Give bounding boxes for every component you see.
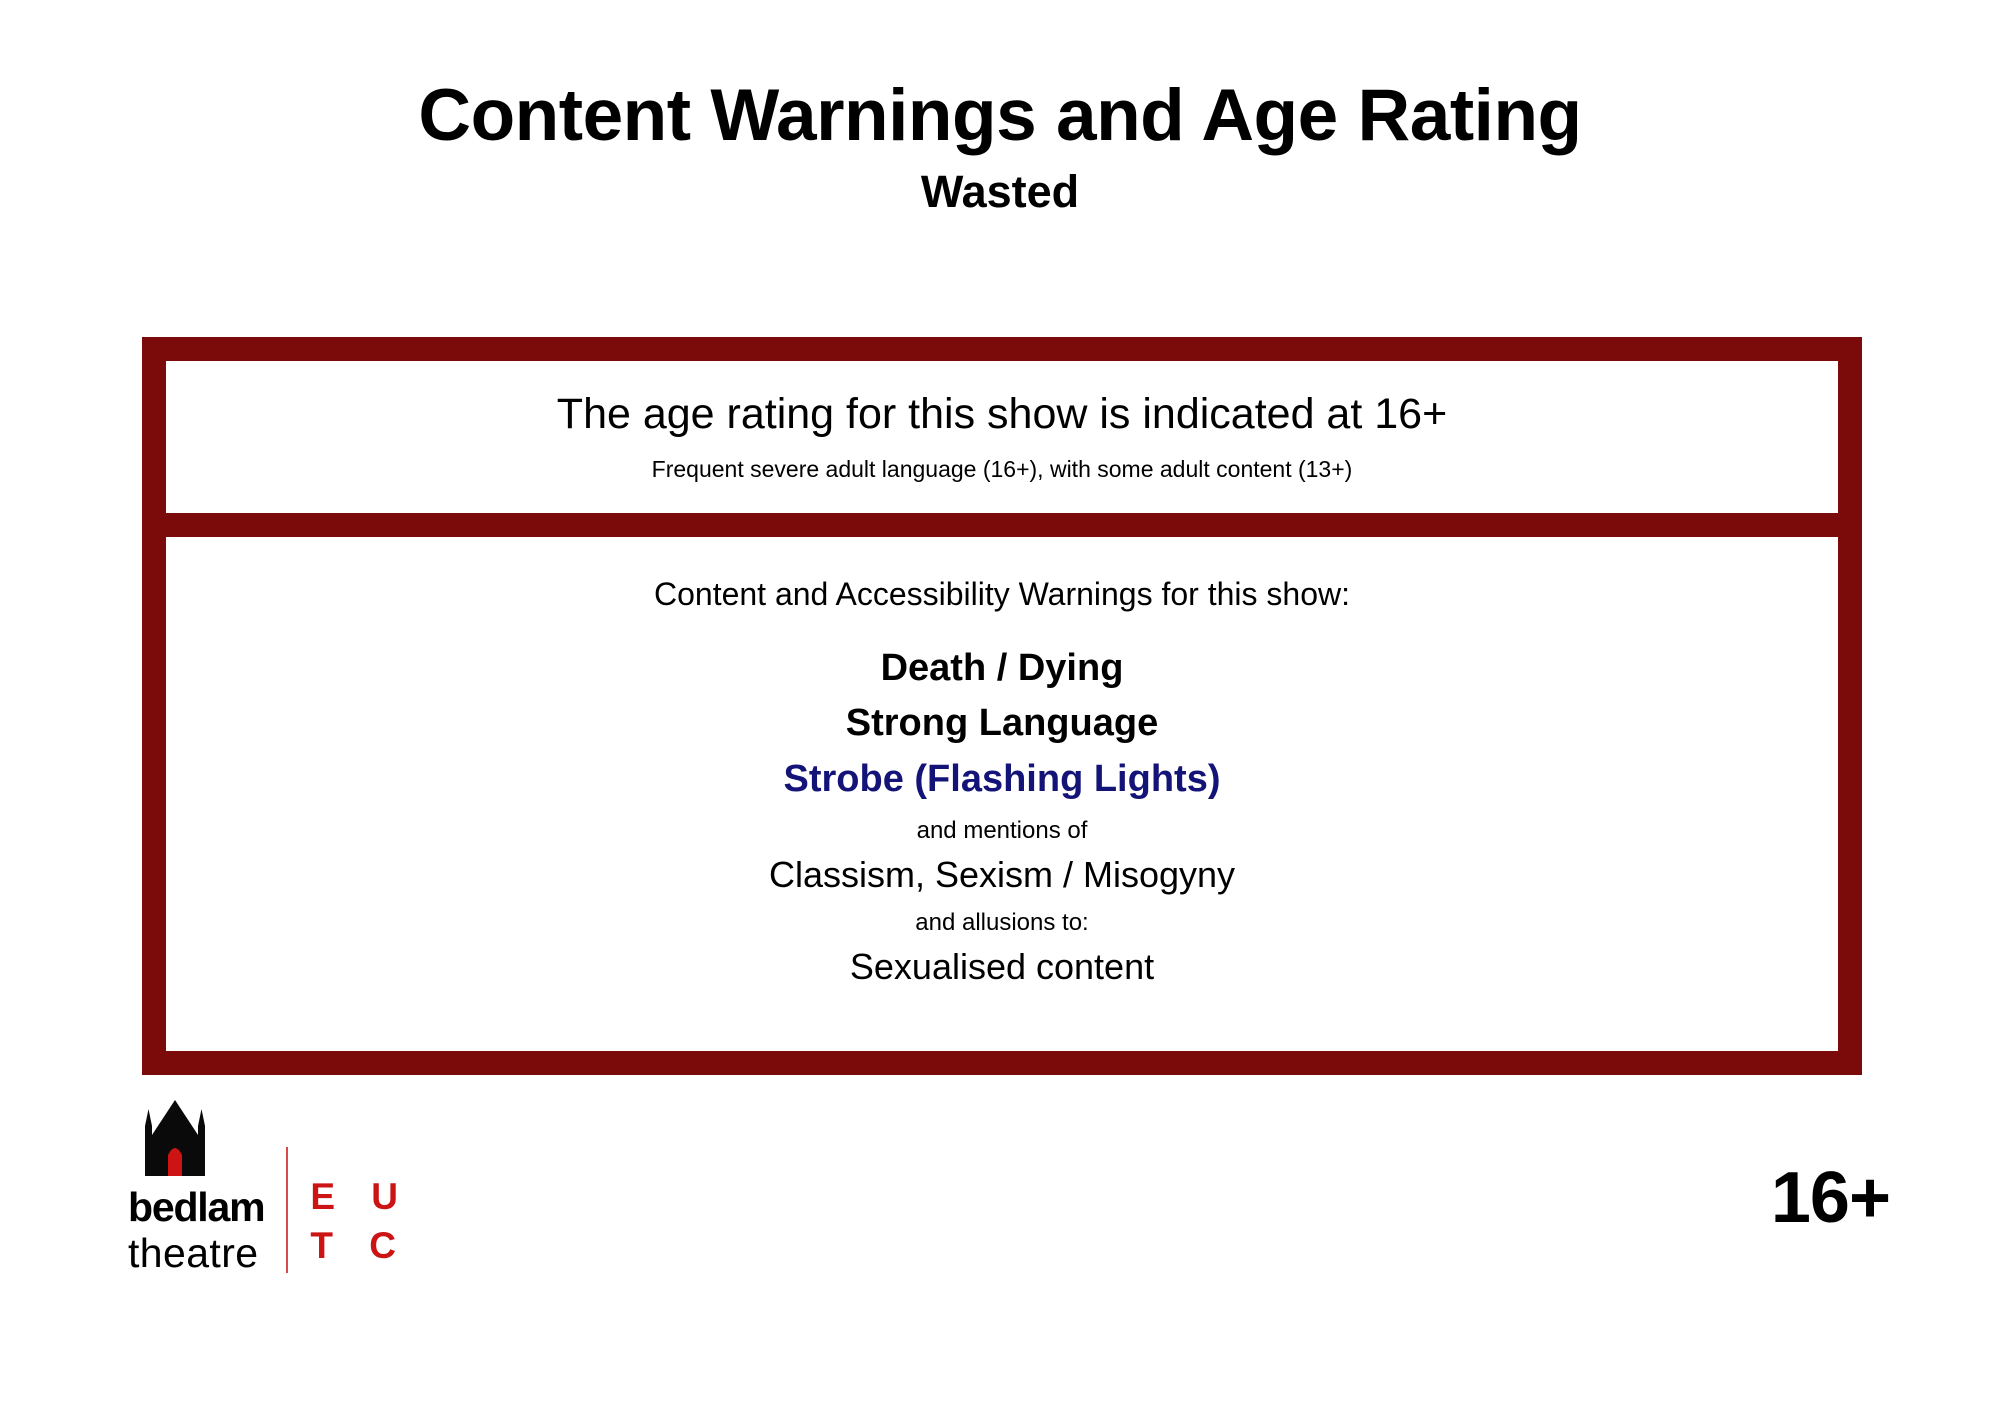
warning-item-allusions: Sexualised content	[850, 943, 1154, 992]
warning-item-death-dying: Death / Dying	[881, 641, 1124, 696]
show-name: Wasted	[0, 167, 2000, 217]
bedlam-eutc-logo: bedlam theatre E U T C	[128, 1098, 411, 1277]
warnings-panel: Content and Accessibility Warnings for t…	[166, 537, 1838, 1051]
mentions-connector: and mentions of	[917, 813, 1088, 849]
logo-word-bedlam: bedlam	[128, 1187, 264, 1228]
age-rating-badge: 16+	[1771, 1162, 1890, 1234]
eutc-logo: E U T C	[310, 1173, 411, 1271]
bedlam-theatre-logo: bedlam theatre	[128, 1098, 264, 1277]
eutc-line-two: T C	[310, 1222, 411, 1271]
warning-item-mentions: Classism, Sexism / Misogyny	[769, 851, 1235, 900]
bedlam-chapel-icon	[141, 1098, 209, 1181]
logo-word-theatre: theatre	[128, 1231, 258, 1277]
content-warning-frame: The age rating for this show is indicate…	[142, 337, 1862, 1075]
age-rating-detail: Frequent severe adult language (16+), wi…	[652, 456, 1353, 484]
warning-item-strong-language: Strong Language	[846, 696, 1158, 751]
page-footer: bedlam theatre E U T C 16+	[0, 1098, 2000, 1298]
warnings-intro: Content and Accessibility Warnings for t…	[654, 575, 1350, 613]
age-rating-panel: The age rating for this show is indicate…	[166, 361, 1838, 513]
logo-divider-rule	[286, 1147, 288, 1273]
eutc-line-one: E U	[310, 1173, 411, 1222]
page-header: Content Warnings and Age Rating Wasted	[0, 0, 2000, 216]
age-rating-statement: The age rating for this show is indicate…	[557, 390, 1447, 439]
allusions-connector: and allusions to:	[915, 905, 1088, 941]
warning-item-strobe: Strobe (Flashing Lights)	[784, 752, 1221, 807]
panel-divider	[166, 513, 1838, 537]
page-title: Content Warnings and Age Rating	[0, 78, 2000, 155]
